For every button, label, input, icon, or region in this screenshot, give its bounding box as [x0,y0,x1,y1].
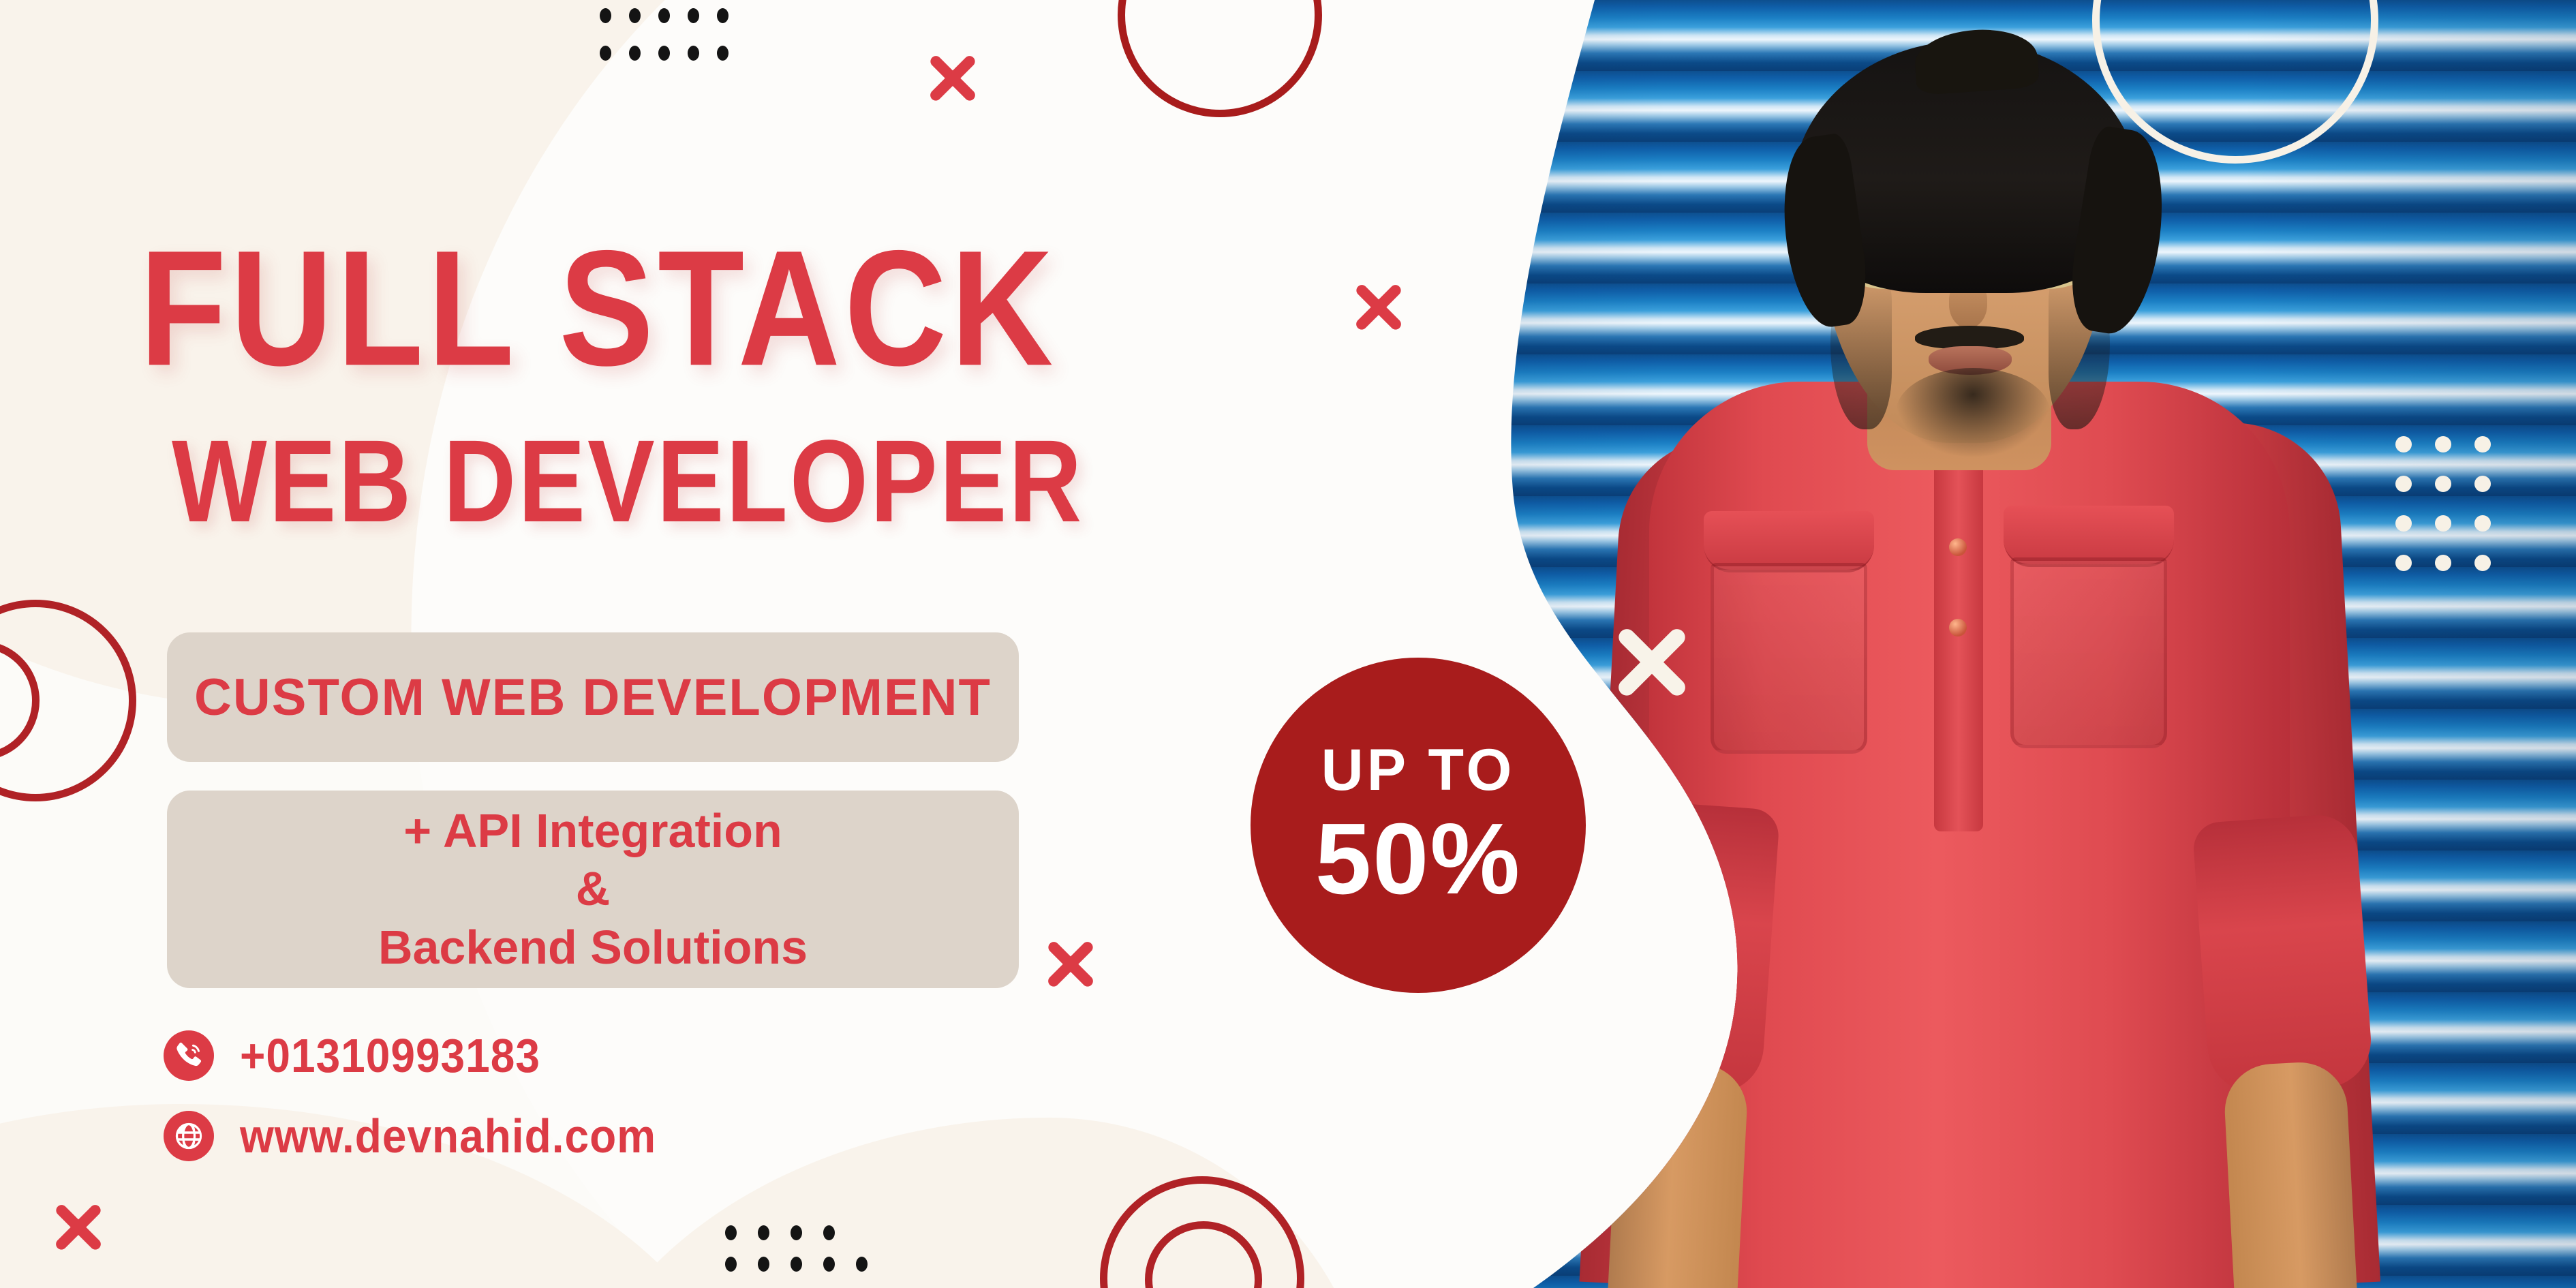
page-title: FULL STACK [140,225,1057,393]
x-mark-bottom-left [49,1198,108,1257]
dot-grid-bottom [725,1225,889,1288]
tag-api-line-1: + API Integration [403,802,782,860]
shirt-button-2 [1949,538,1967,556]
mustache [1915,326,2024,349]
tag-api-line-3: Backend Solutions [378,919,808,977]
chin-beard [1896,368,2050,457]
globe-icon [164,1111,214,1161]
x-mark-top [923,49,982,108]
dot-grid-top [600,8,746,83]
chest-pocket-right [2010,557,2167,748]
dot-grid-photo-right [2395,436,2514,594]
x-mark-headline [1349,278,1408,337]
phone-number: +01310993183 [240,1028,540,1083]
promotional-banner: FULL STACK WEB DEVELOPER CUSTOM WEB DEVE… [0,0,2576,1288]
contact-website-row[interactable]: www.devnahid.com [164,1111,656,1161]
tag-custom-web-development[interactable]: CUSTOM WEB DEVELOPMENT [167,632,1019,762]
page-subtitle: WEB DEVELOPER [172,423,1084,542]
discount-value: 50% [1315,809,1521,910]
chest-pocket-left [1711,563,1867,754]
tag-custom-web-development-label: CUSTOM WEB DEVELOPMENT [194,668,992,727]
contact-phone-row[interactable]: +01310993183 [164,1030,540,1081]
website-url: www.devnahid.com [240,1109,656,1163]
hair-top-spike [1913,26,2040,95]
sleeve-right [2192,812,2374,1096]
phone-icon [164,1030,214,1081]
discount-badge[interactable]: UP TO 50% [1251,658,1586,993]
tag-api-backend[interactable]: + API Integration & Backend Solutions [167,791,1019,988]
discount-prefix: UP TO [1321,741,1516,799]
forearm-right [2222,1060,2357,1288]
x-mark-photo [1608,619,1696,706]
tag-api-line-2: & [576,860,611,918]
x-mark-tags [1041,935,1100,994]
shirt-button-3 [1949,619,1967,637]
